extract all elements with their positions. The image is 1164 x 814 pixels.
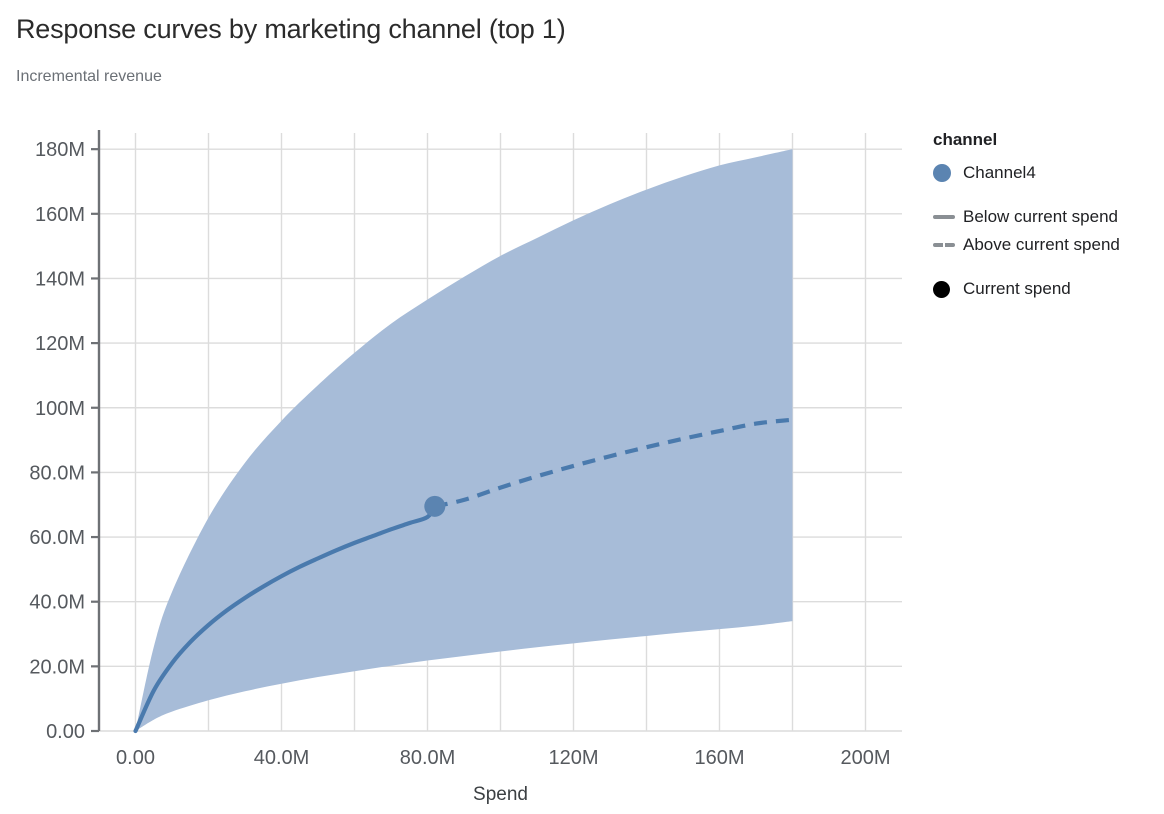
x-axis-tick-label: 160M [694,747,744,769]
legend-item-label: Above current spend [963,235,1120,255]
x-axis-tick-label: 80.0M [400,747,456,769]
y-axis-tick-label: 140M [35,268,85,290]
dashed-line-icon [933,243,963,247]
y-axis-tick-label: 100M [35,398,85,420]
legend-item-channel4[interactable]: Channel4 [933,160,1163,186]
x-axis-tick-label: 120M [548,747,598,769]
y-axis-tick-label: 0.00 [46,721,85,743]
y-axis-tick-label: 80.0M [29,462,85,484]
legend-item-label: Below current spend [963,207,1118,227]
y-axis-tick-label: 60.0M [29,527,85,549]
y-axis-tick-label: 180M [35,139,85,161]
legend-series-dot-icon [933,164,963,182]
x-axis-tick-label: 0.00 [116,747,155,769]
legend-item-below-current-spend[interactable]: Below current spend [933,204,1163,230]
legend-item-label: Current spend [963,279,1071,299]
solid-line-icon [933,215,963,219]
current-spend-marker[interactable] [424,496,445,517]
response-curve-plot: 0.0020.0M40.0M60.0M80.0M100M120M140M160M… [0,0,1164,814]
y-axis-tick-label: 40.0M [29,592,85,614]
chart-container: Response curves by marketing channel (to… [0,0,1164,814]
legend-item-current-spend[interactable]: Current spend [933,276,1163,302]
y-axis-tick-label: 120M [35,333,85,355]
x-axis-title: Spend [473,784,528,805]
x-axis-tick-label: 40.0M [254,747,310,769]
y-axis-tick-label: 160M [35,204,85,226]
current-spend-dot-icon [933,281,963,298]
legend-item-label: Channel4 [963,163,1036,183]
legend: channel Channel4 Below current spend Abo… [933,130,1163,304]
x-axis-tick-label: 200M [840,747,890,769]
legend-title: channel [933,130,1163,150]
y-axis-tick-label: 20.0M [29,656,85,678]
legend-item-above-current-spend[interactable]: Above current spend [933,232,1163,258]
